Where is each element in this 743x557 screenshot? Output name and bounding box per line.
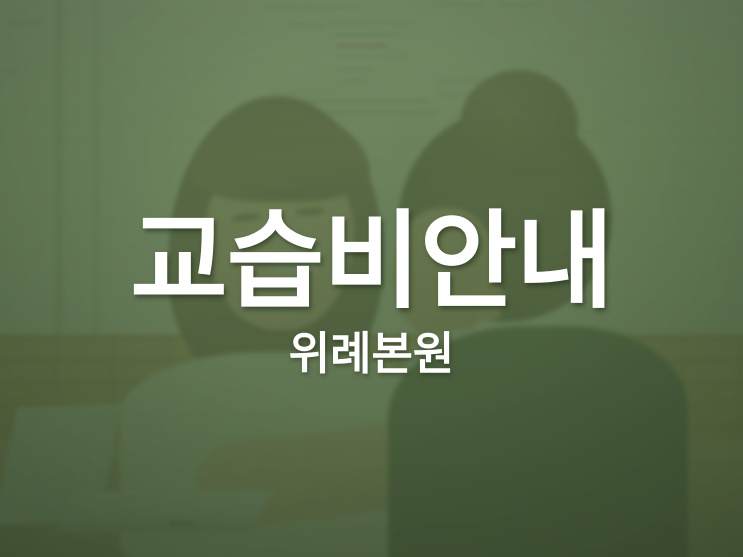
- banner-headline: 교습비안내: [130, 208, 613, 316]
- promo-banner: 교습비안내 위례본원: [0, 0, 743, 557]
- banner-subheadline: 위례본원: [289, 330, 455, 377]
- banner-text-block: 교습비안내 위례본원: [0, 0, 743, 557]
